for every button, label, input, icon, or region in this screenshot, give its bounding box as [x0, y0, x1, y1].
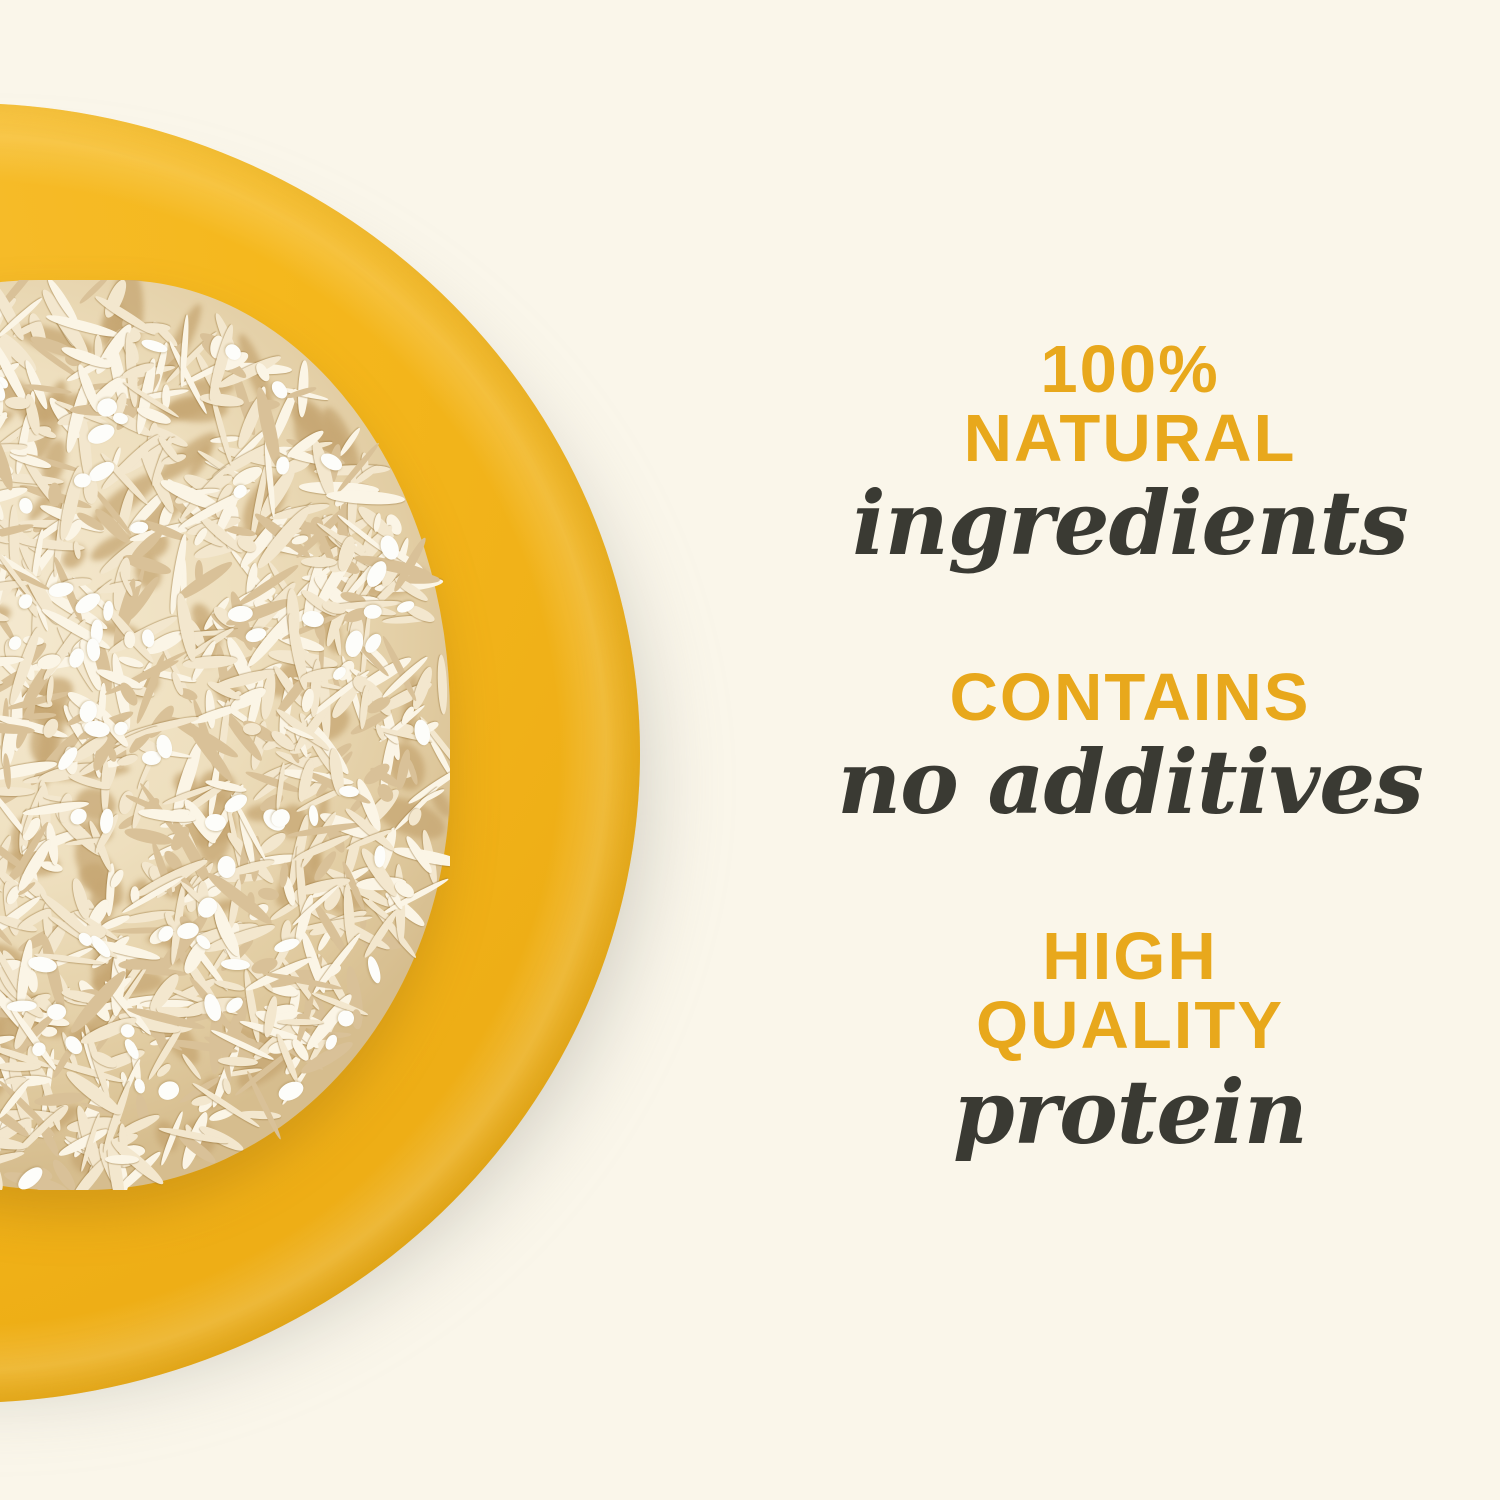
claim-2-headline-1: CONTAINS — [760, 663, 1500, 732]
shredded-chicken-pile — [0, 280, 450, 1190]
claim-1-headline-1: 100% — [760, 335, 1500, 404]
product-benefits-banner: 100% NATURAL ingredients CONTAINS no add… — [0, 0, 1500, 1500]
claim-no-additives: CONTAINS no additives — [760, 663, 1500, 826]
claim-1-headline-2: NATURAL — [760, 404, 1500, 473]
claim-3-headline-1: HIGH — [760, 922, 1500, 991]
benefit-claims-list: 100% NATURAL ingredients CONTAINS no add… — [760, 0, 1500, 1500]
claim-2-subline: no additives — [760, 738, 1500, 826]
claim-3-headline-2: QUALITY — [760, 991, 1500, 1060]
claim-natural-ingredients: 100% NATURAL ingredients — [760, 335, 1500, 567]
claim-3-subline: protein — [760, 1068, 1500, 1156]
claim-high-quality-protein: HIGH QUALITY protein — [760, 922, 1500, 1156]
food-texture-layer — [0, 280, 450, 1190]
claim-1-subline: ingredients — [760, 479, 1500, 567]
food-photo — [0, 0, 760, 1500]
